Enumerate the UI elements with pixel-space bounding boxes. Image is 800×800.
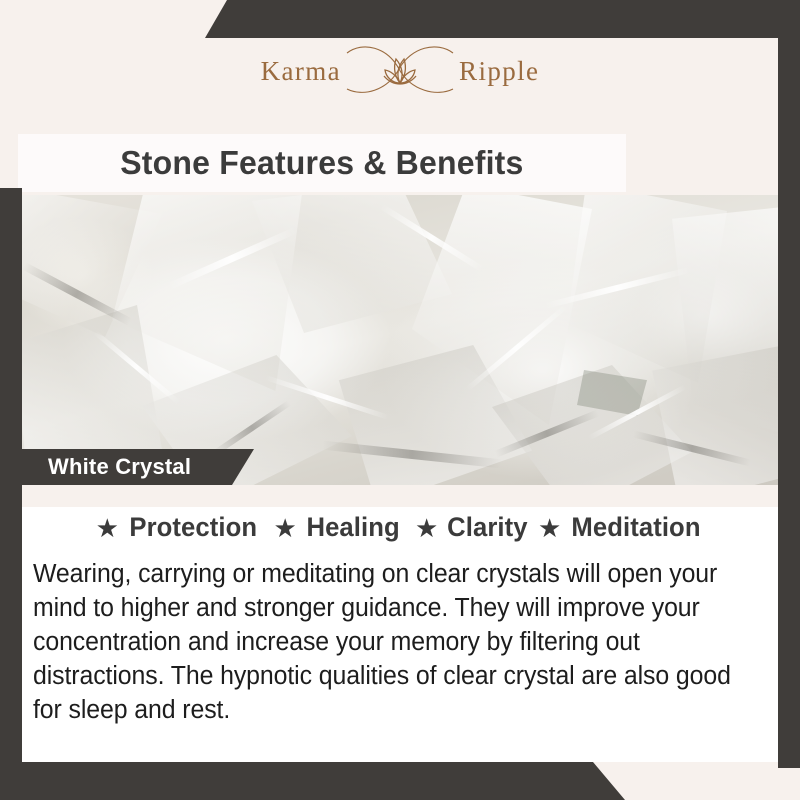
- feature-label: Clarity: [447, 512, 527, 543]
- decorative-left-edge-bar: [0, 188, 22, 768]
- body-top-divider: [0, 485, 800, 507]
- description-paragraph: Wearing, carrying or meditating on clear…: [33, 557, 741, 727]
- feature-label: Healing: [306, 512, 399, 543]
- star-icon: ★: [96, 515, 119, 541]
- brand-name-right: Ripple: [459, 56, 539, 87]
- decorative-bottom-bar: [0, 762, 625, 800]
- star-icon: ★: [415, 515, 438, 541]
- feature-item-meditation: ★ Meditation: [538, 512, 704, 543]
- feature-item-healing: ★ Healing: [273, 512, 402, 543]
- feature-item-protection: ★ Protection: [96, 512, 261, 543]
- star-icon: ★: [273, 515, 296, 541]
- decorative-right-edge-bar: [778, 38, 800, 768]
- page-title: Stone Features & Benefits: [120, 144, 523, 182]
- decorative-top-right-bar: [205, 0, 800, 38]
- body-section: ★ Protection ★ Healing ★ Clarity ★ Medit…: [0, 485, 800, 800]
- white-crystal-cluster-photo: [22, 195, 778, 485]
- feature-label: Meditation: [572, 512, 701, 543]
- infographic-card: Karma Ripple Stone Features & Bene: [0, 0, 800, 800]
- feature-item-clarity: ★ Clarity: [415, 512, 530, 543]
- star-icon: ★: [538, 515, 561, 541]
- feature-label: Protection: [129, 512, 257, 543]
- stone-name-label: White Crystal: [48, 454, 191, 480]
- lotus-flower-icon: [345, 43, 455, 99]
- brand-name-left: Karma: [261, 56, 341, 87]
- stone-name-banner: White Crystal: [22, 449, 254, 485]
- features-list: ★ Protection ★ Healing ★ Clarity ★ Medit…: [0, 512, 800, 543]
- brand-logo: Karma Ripple: [0, 40, 800, 102]
- title-band: Stone Features & Benefits: [18, 134, 626, 192]
